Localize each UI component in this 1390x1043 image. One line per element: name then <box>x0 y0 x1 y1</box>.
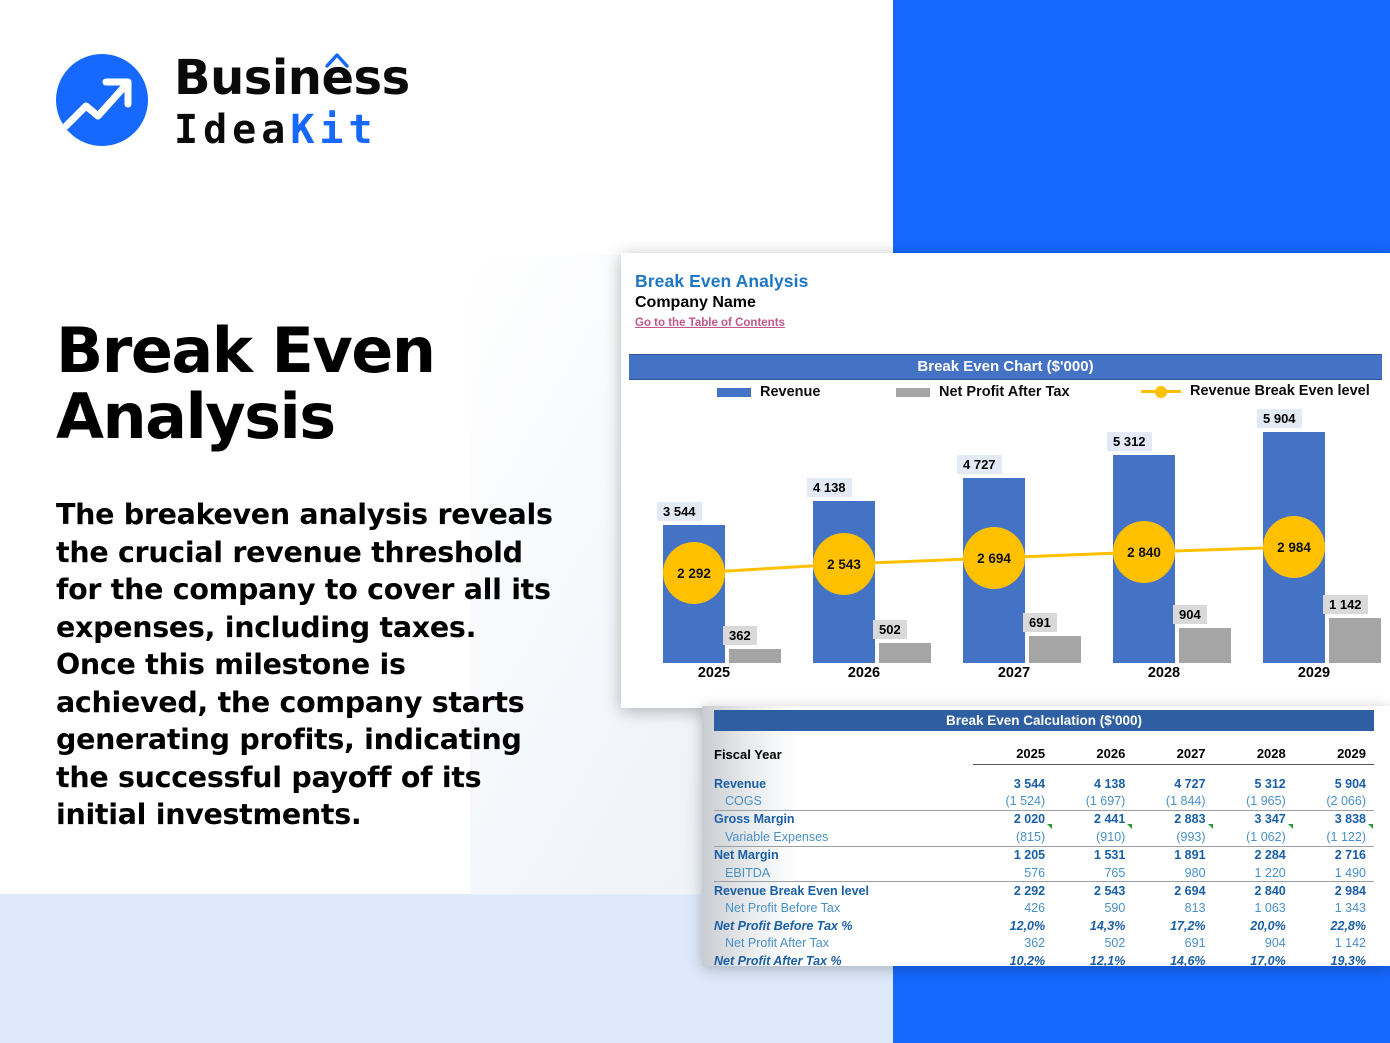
table-cell: (910) <box>1053 828 1133 846</box>
table-cell: 12,0% <box>973 917 1053 934</box>
legend-line-marker-icon <box>1141 386 1181 397</box>
table-cell: 1 531 <box>1053 846 1133 864</box>
chart-bars: 3 544 362 4 138 502 4 727 691 <box>631 413 1381 663</box>
table-cell: (1 122) <box>1294 828 1374 846</box>
legend-item-break-even-level[interactable]: Revenue Break Even level <box>1141 383 1370 399</box>
table-header-year-2027: 2027 <box>1133 737 1213 765</box>
table-cell: 904 <box>1214 935 1294 952</box>
table-cell: 2 284 <box>1214 846 1294 864</box>
table-row: Net Profit Before Tax4265908131 0631 343 <box>714 900 1374 917</box>
break-even-bubble-2028[interactable]: 2 840 <box>1113 521 1175 583</box>
table-row: COGS(1 524)(1 697)(1 844)(1 965)(2 066) <box>714 792 1374 810</box>
table-row-label: Gross Margin <box>714 810 973 828</box>
chart-x-axis: 2025 2026 2027 2028 2029 <box>631 665 1381 695</box>
table-cell: 2 292 <box>973 882 1053 900</box>
bar-label-revenue-2028: 5 312 <box>1107 432 1152 451</box>
table-cell: 17,2% <box>1133 917 1213 934</box>
table-cell: 14,6% <box>1133 952 1213 966</box>
table-spacer-row <box>714 765 1374 776</box>
chart-plot-area: 3 544 362 4 138 502 4 727 691 <box>631 413 1381 703</box>
table-row: Revenue3 5444 1384 7275 3125 904 <box>714 775 1374 792</box>
table-cell: 1 891 <box>1133 846 1213 864</box>
sheet-company-name: Company Name <box>635 292 808 313</box>
break-even-bubble-2025[interactable]: 2 292 <box>663 542 725 604</box>
table-cell: 1 490 <box>1294 864 1374 882</box>
table-cell: 502 <box>1053 935 1133 952</box>
table-row: Net Margin1 2051 5311 8912 2842 716 <box>714 846 1374 864</box>
legend-item-revenue[interactable]: Revenue <box>717 384 820 400</box>
table-row: Net Profit Before Tax %12,0%14,3%17,2%20… <box>714 917 1374 934</box>
bar-net-profit-2029[interactable] <box>1329 618 1381 663</box>
legend-label-break-even-level: Revenue Break Even level <box>1190 383 1370 399</box>
table-header-row: Fiscal Year20252026202720282029 <box>714 737 1374 765</box>
table-cell: 980 <box>1133 864 1213 882</box>
bar-label-npat-2026: 502 <box>873 620 907 639</box>
break-even-value-2027: 2 694 <box>977 551 1011 566</box>
table-row-label: Net Profit Before Tax <box>714 900 973 917</box>
table-cell: 5 312 <box>1214 775 1294 792</box>
logo-circumflex-icon <box>324 52 350 68</box>
bar-label-npat-2027: 691 <box>1023 613 1057 632</box>
table-cell: (1 062) <box>1214 828 1294 846</box>
table-cell: 1 063 <box>1214 900 1294 917</box>
bar-label-npat-2029: 1 142 <box>1323 595 1368 614</box>
table-row-label: Net Profit Before Tax % <box>714 917 973 934</box>
table-banner: Break Even Calculation ($'000) <box>714 710 1374 731</box>
bar-label-revenue-2027: 4 727 <box>957 455 1002 474</box>
table-cell: 10,2% <box>973 952 1053 966</box>
brand-logo: Business IdeaKit <box>56 50 436 158</box>
table-row: Variable Expenses(815)(910)(993)(1 062)(… <box>714 828 1374 846</box>
table-row: Gross Margin2 0202 4412 8833 3473 838 <box>714 810 1374 828</box>
table-row-label: Net Margin <box>714 846 973 864</box>
table-cell: 3 544 <box>973 775 1053 792</box>
table-cell: 2 020 <box>973 810 1053 828</box>
x-tick-2027: 2027 <box>939 665 1089 681</box>
table-row-label: Revenue <box>714 775 973 792</box>
background-blue-under-table <box>893 966 1390 1043</box>
x-tick-2025: 2025 <box>639 665 789 681</box>
table-cell: 1 343 <box>1294 900 1374 917</box>
legend-swatch-net-profit-icon <box>896 388 930 397</box>
table-cell: 1 205 <box>973 846 1053 864</box>
legend-label-net-profit-after-tax: Net Profit After Tax <box>939 384 1070 400</box>
bar-group-2025: 3 544 362 <box>639 413 789 663</box>
table-cell: 19,3% <box>1294 952 1374 966</box>
table-cell: 1 142 <box>1294 935 1374 952</box>
financial-table: Fiscal Year20252026202720282029Revenue3 … <box>714 737 1374 966</box>
table-row-label: Revenue Break Even level <box>714 882 973 900</box>
table-cell: (2 066) <box>1294 792 1374 810</box>
slide-canvas: Business IdeaKit Break Even Analysis The… <box>0 0 1390 1043</box>
table-row-label: Variable Expenses <box>714 828 973 846</box>
table-header-year-2025: 2025 <box>973 737 1053 765</box>
break-even-bubble-2029[interactable]: 2 984 <box>1263 516 1325 578</box>
logo-wordmark: Business IdeaKit <box>174 50 410 154</box>
x-tick-2028: 2028 <box>1089 665 1239 681</box>
table-cell: 5 904 <box>1294 775 1374 792</box>
bar-net-profit-2027[interactable] <box>1029 636 1081 663</box>
page-description: The breakeven analysis reveals the cruci… <box>56 496 556 834</box>
bar-group-2026: 4 138 502 <box>789 413 939 663</box>
table-cell: 426 <box>973 900 1053 917</box>
x-tick-2026: 2026 <box>789 665 939 681</box>
table-row-label: Net Profit After Tax % <box>714 952 973 966</box>
chart-banner-label: Break Even Chart ($'000) <box>629 355 1382 379</box>
bar-label-npat-2025: 362 <box>723 626 757 645</box>
table-cell: 691 <box>1133 935 1213 952</box>
legend-label-revenue: Revenue <box>760 384 820 400</box>
table-cell: 2 883 <box>1133 810 1213 828</box>
table-header-year-2029: 2029 <box>1294 737 1374 765</box>
table-cell: 4 138 <box>1053 775 1133 792</box>
break-even-bubble-2026[interactable]: 2 543 <box>813 533 875 595</box>
table-cell: (815) <box>973 828 1053 846</box>
bar-label-revenue-2026: 4 138 <box>807 478 852 497</box>
break-even-calculation-panel: Break Even Calculation ($'000) Fiscal Ye… <box>702 706 1390 966</box>
table-row: Net Profit After Tax %10,2%12,1%14,6%17,… <box>714 952 1374 966</box>
bar-net-profit-2028[interactable] <box>1179 628 1231 663</box>
break-even-value-2025: 2 292 <box>677 566 711 581</box>
table-row: EBITDA5767659801 2201 490 <box>714 864 1374 882</box>
table-row-label: Net Profit After Tax <box>714 935 973 952</box>
table-cell: 2 694 <box>1133 882 1213 900</box>
x-tick-2029: 2029 <box>1239 665 1389 681</box>
page-title: Break Even Analysis <box>56 318 556 450</box>
logo-word-business: Business <box>174 50 410 106</box>
bar-net-profit-2026[interactable] <box>879 643 931 663</box>
bar-label-npat-2028: 904 <box>1173 605 1207 624</box>
chart-panel-header: Break Even Analysis Company Name Go to t… <box>635 270 808 332</box>
table-cell: 813 <box>1133 900 1213 917</box>
legend-swatch-revenue-icon <box>717 388 751 397</box>
table-cell: 2 716 <box>1294 846 1374 864</box>
logo-growth-arrow-icon <box>56 54 148 146</box>
bar-net-profit-2025[interactable] <box>729 649 781 663</box>
table-cell: 576 <box>973 864 1053 882</box>
table-cell: (993) <box>1133 828 1213 846</box>
table-row-label: EBITDA <box>714 864 973 882</box>
table-row: Revenue Break Even level2 2922 5432 6942… <box>714 882 1374 900</box>
table-header-fiscal-year: Fiscal Year <box>714 737 973 765</box>
legend-item-net-profit-after-tax[interactable]: Net Profit After Tax <box>896 384 1070 400</box>
table-cell: 17,0% <box>1214 952 1294 966</box>
table-header-year-2026: 2026 <box>1053 737 1133 765</box>
break-even-value-2029: 2 984 <box>1277 540 1311 555</box>
table-cell: 20,0% <box>1214 917 1294 934</box>
table-cell: (1 697) <box>1053 792 1133 810</box>
break-even-bubble-2027[interactable]: 2 694 <box>963 527 1025 589</box>
table-of-contents-link[interactable]: Go to the Table of Contents <box>635 317 785 329</box>
table-row-label: COGS <box>714 792 973 810</box>
bar-label-revenue-2025: 3 544 <box>657 502 702 521</box>
table-cell: 12,1% <box>1053 952 1133 966</box>
table-cell: 3 347 <box>1214 810 1294 828</box>
table-row: Net Profit After Tax3625026919041 142 <box>714 935 1374 952</box>
table-cell: 14,3% <box>1053 917 1133 934</box>
table-cell: 590 <box>1053 900 1133 917</box>
table-cell: 362 <box>973 935 1053 952</box>
table-cell: 22,8% <box>1294 917 1374 934</box>
table-banner-label: Break Even Calculation ($'000) <box>714 710 1374 731</box>
table-cell: 1 220 <box>1214 864 1294 882</box>
break-even-value-2026: 2 543 <box>827 557 861 572</box>
table-header-year-2028: 2028 <box>1214 737 1294 765</box>
table-cell: 2 840 <box>1214 882 1294 900</box>
break-even-value-2028: 2 840 <box>1127 545 1161 560</box>
table-cell: (1 965) <box>1214 792 1294 810</box>
break-even-chart-panel: Break Even Analysis Company Name Go to t… <box>621 253 1390 708</box>
logo-word-idea: Idea <box>174 107 290 153</box>
table-cell: 2 441 <box>1053 810 1133 828</box>
table-cell: (1 844) <box>1133 792 1213 810</box>
logo-line-two: IdeaKit <box>174 106 410 154</box>
table-cell: 2 984 <box>1294 882 1374 900</box>
table-cell: 765 <box>1053 864 1133 882</box>
sheet-title: Break Even Analysis <box>635 270 808 292</box>
table-cell: 3 838 <box>1294 810 1374 828</box>
chart-legend: Revenue Net Profit After Tax Revenue Bre… <box>629 383 1382 405</box>
table-cell: (1 524) <box>973 792 1053 810</box>
logo-word-kit: Kit <box>290 107 377 153</box>
bar-label-revenue-2029: 5 904 <box>1257 409 1302 428</box>
chart-banner: Break Even Chart ($'000) <box>629 354 1382 380</box>
table-cell: 2 543 <box>1053 882 1133 900</box>
table-cell: 4 727 <box>1133 775 1213 792</box>
